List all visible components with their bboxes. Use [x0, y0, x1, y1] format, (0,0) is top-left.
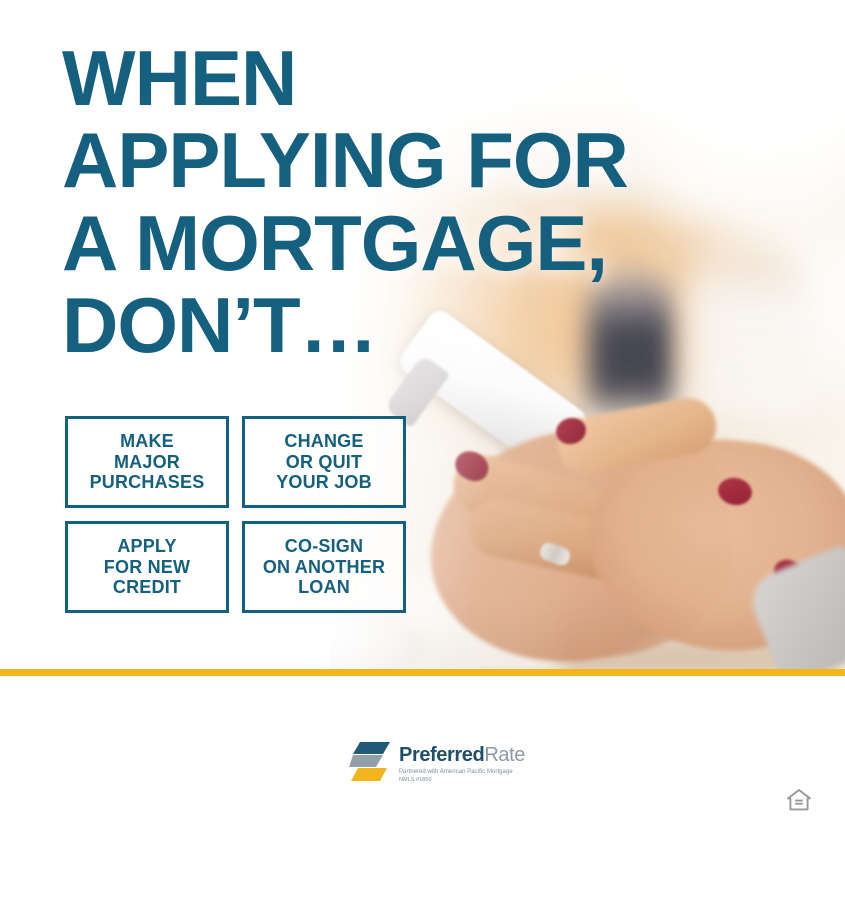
equal-housing-opportunity-icon	[786, 787, 812, 813]
logo-nmls-number: NMLS #1850	[399, 777, 525, 785]
logo-wordmark: PreferredRate	[399, 745, 525, 765]
warning-box-grid: MAKEMAJORPURCHASES CHANGEOR QUITYOUR JOB…	[65, 416, 406, 613]
preferred-rate-logo[interactable]: PreferredRate Partnered with American Pa…	[349, 738, 525, 785]
logo-tagline: Partnered with American Pacific Mortgage	[399, 768, 525, 777]
box-apply-for-new-credit-label: APPLYFOR NEWCREDIT	[104, 536, 190, 599]
headline: WHEN APPLYING FOR A MORTGAGE, DON’T…	[62, 40, 702, 370]
preferred-rate-logo-text: PreferredRate Partnered with American Pa…	[399, 738, 525, 785]
headline-line-2: APPLYING FOR	[62, 122, 702, 198]
hero-banner: WHEN APPLYING FOR A MORTGAGE, DON’T… MAK…	[0, 0, 845, 673]
box-change-or-quit-your-job: CHANGEOR QUITYOUR JOB	[242, 416, 406, 508]
box-co-sign-on-another-loan: CO-SIGNON ANOTHERLOAN	[242, 521, 406, 613]
gold-divider-rule	[0, 669, 845, 676]
headline-line-4: DON’T…	[62, 287, 702, 363]
footer: PreferredRate Partnered with American Pa…	[0, 676, 845, 900]
headline-line-3: A MORTGAGE,	[62, 205, 702, 281]
box-change-or-quit-your-job-label: CHANGEOR QUITYOUR JOB	[276, 431, 372, 494]
photo-coffee-cup	[232, 610, 422, 673]
preferred-rate-logo-mark	[349, 740, 395, 784]
logo-word-preferred: Preferred	[399, 744, 484, 766]
photo-blurred-person-secondary	[690, 250, 810, 420]
box-apply-for-new-credit: APPLYFOR NEWCREDIT	[65, 521, 229, 613]
headline-line-1: WHEN	[62, 40, 702, 116]
box-make-major-purchases-label: MAKEMAJORPURCHASES	[90, 431, 205, 494]
box-co-sign-on-another-loan-label: CO-SIGNON ANOTHERLOAN	[263, 536, 385, 599]
box-make-major-purchases: MAKEMAJORPURCHASES	[65, 416, 229, 508]
logo-word-rate: Rate	[484, 744, 525, 766]
